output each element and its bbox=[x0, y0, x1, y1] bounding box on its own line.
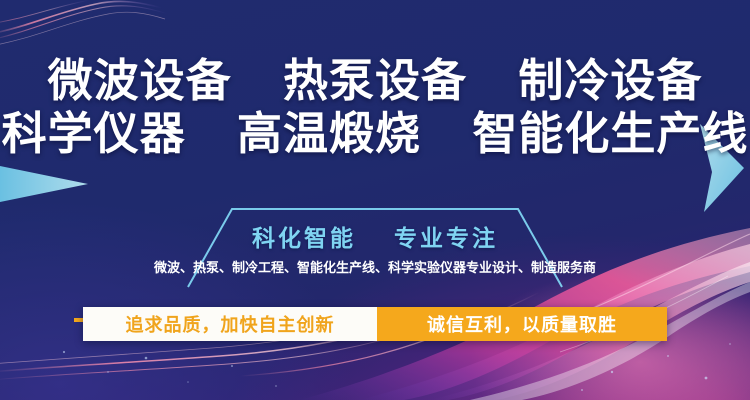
cta-bar: 追求品质，加快自主创新 诚信互利，以质量取胜 bbox=[83, 307, 667, 341]
cta-tick-marker bbox=[74, 318, 83, 322]
cta-left-button[interactable]: 追求品质，加快自主创新 bbox=[83, 307, 377, 341]
slogan-cyan-part-2: 专业专注 bbox=[394, 226, 498, 252]
slogan-subline: 微波、热泵、制冷工程、智能化生产线、科学实验仪器专业设计、制造服务商 bbox=[0, 257, 750, 276]
headline-line-1: 微波设备 热泵设备 制冷设备 bbox=[0, 58, 750, 104]
headline-word-refrigeration: 制冷设备 bbox=[518, 54, 702, 107]
headline-word-smartline: 智能化生产线 bbox=[472, 107, 748, 160]
slogan-block: 科化智能 专业专注 微波、热泵、制冷工程、智能化生产线、科学实验仪器专业设计、制… bbox=[0, 205, 750, 289]
headline-word-calcination: 高温煅烧 bbox=[237, 107, 421, 160]
cta-right-button[interactable]: 诚信互利，以质量取胜 bbox=[377, 307, 667, 341]
headline-word-instruments: 科学仪器 bbox=[2, 107, 186, 160]
headline-line-2: 科学仪器 高温煅烧 智能化生产线 bbox=[0, 111, 750, 157]
cta-right-label: 诚信互利，以质量取胜 bbox=[427, 311, 617, 337]
promo-banner: 微波设备 热泵设备 制冷设备 科学仪器 高温煅烧 智能化生产线 科化智能 专业专… bbox=[0, 0, 750, 400]
slogan-cyan: 科化智能 专业专注 bbox=[0, 219, 750, 253]
headline: 微波设备 热泵设备 制冷设备 科学仪器 高温煅烧 智能化生产线 bbox=[0, 58, 750, 158]
headline-word-microwave: 微波设备 bbox=[48, 54, 232, 107]
triangle-right-icon bbox=[0, 160, 92, 206]
headline-word-heatpump: 热泵设备 bbox=[283, 54, 467, 107]
slogan-cyan-part-1: 科化智能 bbox=[252, 226, 356, 252]
cta-left-label: 追求品质，加快自主创新 bbox=[126, 311, 335, 337]
